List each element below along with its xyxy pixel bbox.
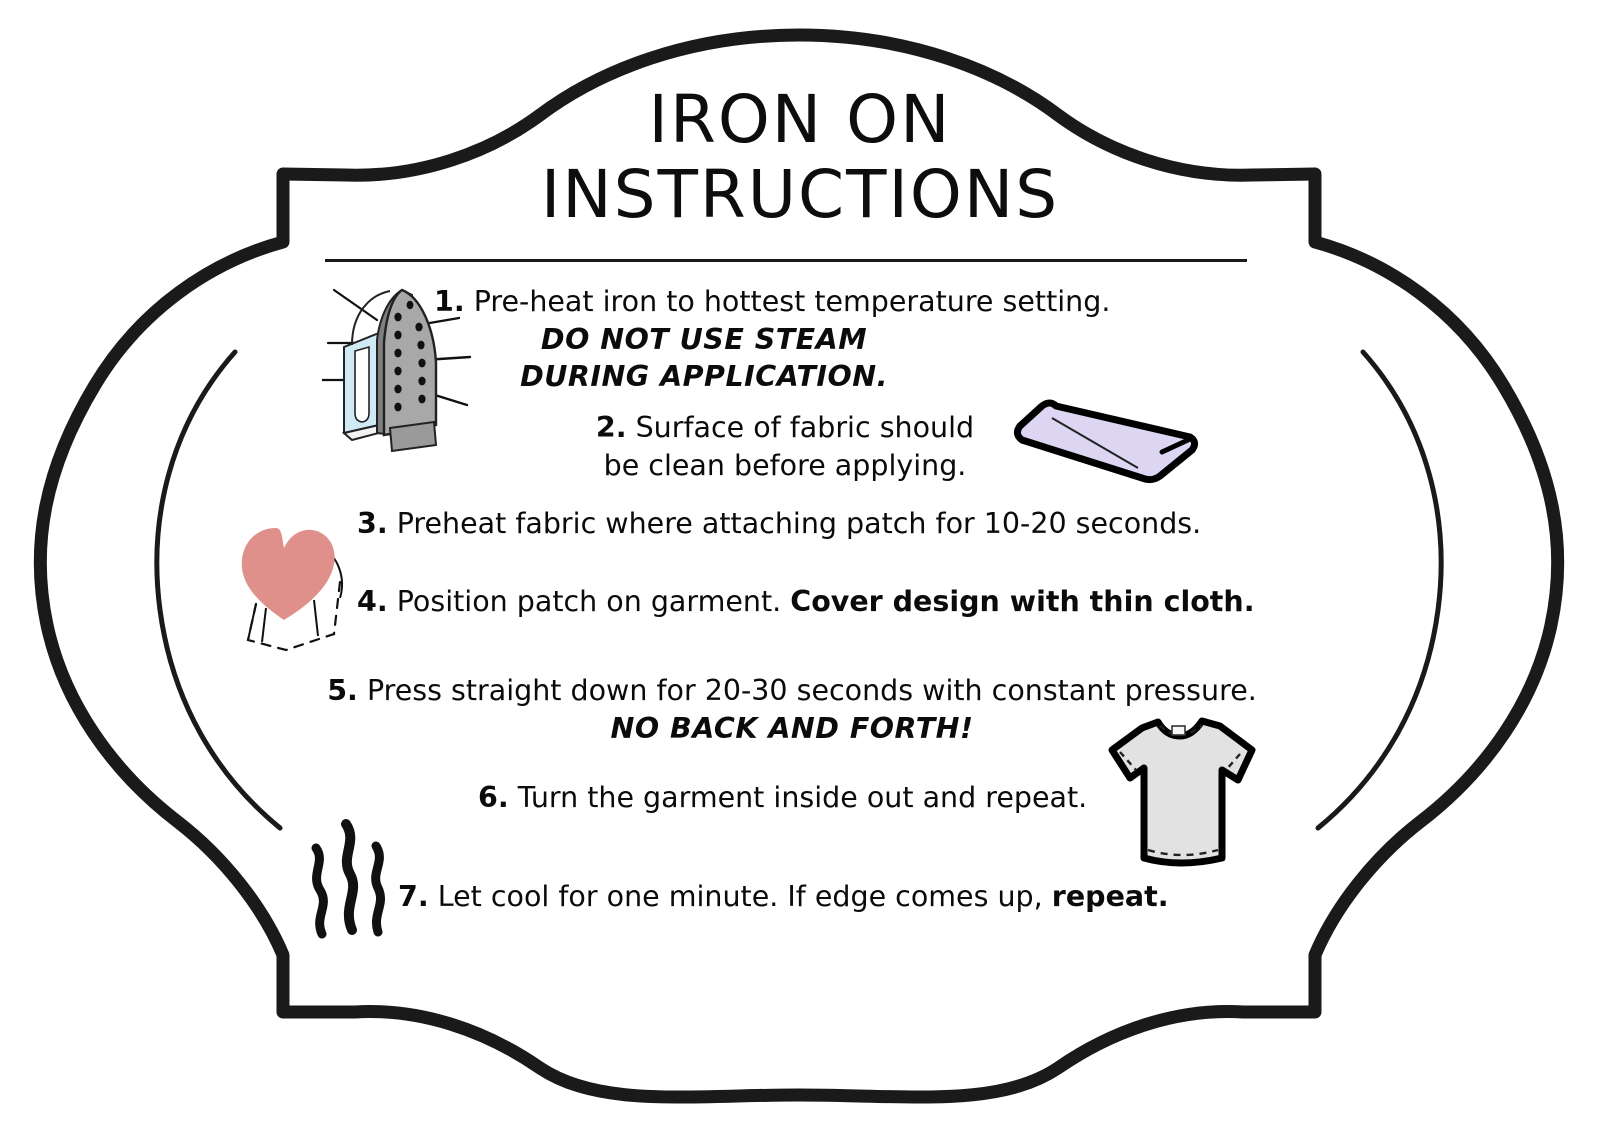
step-2-text-line-2: be clean before applying. <box>583 447 987 485</box>
step-7-number: 7. <box>398 880 429 913</box>
step-4: 4. Position patch on garment. Cover desi… <box>357 583 1255 621</box>
title-line-2: INSTRUCTIONS <box>300 163 1300 228</box>
step-4-number: 4. <box>357 585 388 618</box>
step-3: 3. Preheat fabric where attaching patch … <box>357 505 1201 543</box>
instruction-card: IRON ON INSTRUCTIONS <box>0 0 1599 1127</box>
step-7: 7. Let cool for one minute. If edge come… <box>398 878 1169 916</box>
step-5-number: 5. <box>327 674 358 707</box>
step-5-emphasis-line-1: NO BACK AND FORTH! <box>306 710 1278 748</box>
page-title: IRON ON INSTRUCTIONS <box>300 88 1300 227</box>
step-5: 5. Press straight down for 20-30 seconds… <box>306 672 1278 747</box>
step-6: 6. Turn the garment inside out and repea… <box>478 779 1087 817</box>
steam-waves-icon <box>300 812 396 944</box>
step-1-text: Pre-heat iron to hottest temperature set… <box>474 285 1111 318</box>
title-line-1: IRON ON <box>300 88 1300 153</box>
folded-fabric-icon <box>1012 392 1202 484</box>
step-3-number: 3. <box>357 507 388 540</box>
step-3-text: Preheat fabric where attaching patch for… <box>397 507 1202 540</box>
step-1-emphasis-line-2: DURING APPLICATION. <box>424 358 984 396</box>
title-divider <box>325 259 1247 262</box>
step-7-bold-text: repeat. <box>1052 880 1169 913</box>
step-1: 1. Pre-heat iron to hottest temperature … <box>434 283 1110 396</box>
step-6-text: Turn the garment inside out and repeat. <box>518 781 1087 814</box>
step-2: 2. Surface of fabric should be clean bef… <box>583 409 987 484</box>
step-4-bold-text: Cover design with thin cloth. <box>790 585 1254 618</box>
step-5-text: Press straight down for 20-30 seconds wi… <box>367 674 1257 707</box>
step-4-text: Position patch on garment. <box>397 585 781 618</box>
step-6-number: 6. <box>478 781 509 814</box>
step-2-number: 2. <box>596 411 627 444</box>
step-2-text-line-1: Surface of fabric should <box>636 411 975 444</box>
heart-patch-icon <box>222 508 370 656</box>
step-7-text: Let cool for one minute. If edge comes u… <box>438 880 1043 913</box>
step-1-emphasis-line-1: DO NOT USE STEAM <box>424 321 984 359</box>
step-1-number: 1. <box>434 285 465 318</box>
